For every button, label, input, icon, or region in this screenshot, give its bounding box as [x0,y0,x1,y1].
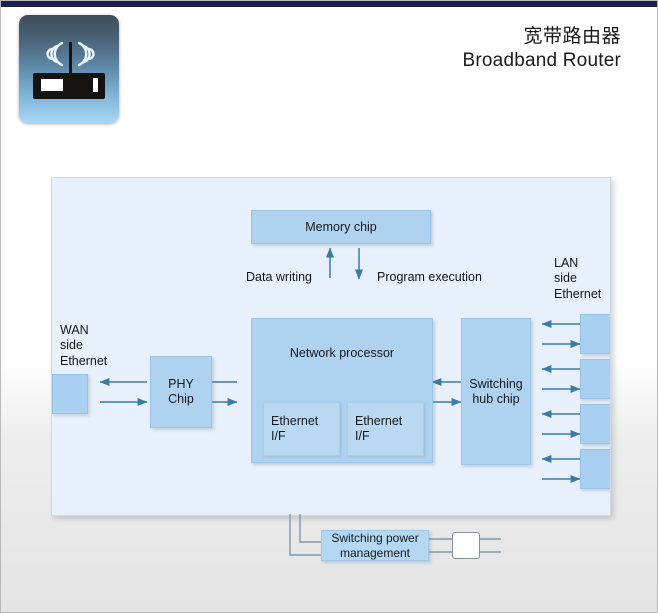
port-lan-3[interactable] [580,404,611,444]
block-phy-chip-label: PHY Chip [168,377,194,407]
block-memory-chip-label: Memory chip [305,220,377,235]
router-internal-diagram-panel: Memory chip Data writing Program executi… [51,177,611,516]
page-title: 宽带路由器 Broadband Router [463,25,621,74]
router-antenna [69,42,72,75]
page-root: 宽带路由器 Broadband Router [0,0,658,613]
block-ethernet-if-1-label: Ethernet I/F [271,414,318,444]
block-switching-power-management-label: Switching power management [331,531,418,559]
title-chinese: 宽带路由器 [463,25,621,49]
port-lan-2[interactable] [580,359,611,399]
block-memory-chip[interactable]: Memory chip [251,210,431,244]
block-ethernet-if-2-label: Ethernet I/F [355,414,402,444]
label-lan-side-ethernet: LAN side Ethernet [554,256,601,302]
block-ethernet-if-2[interactable]: Ethernet I/F [347,402,424,456]
label-data-writing: Data writing [246,270,312,285]
block-network-processor-label: Network processor [290,346,394,361]
router-display-led [41,79,63,91]
label-program-execution: Program execution [377,270,482,285]
router-status-led [93,78,98,92]
port-lan-1[interactable] [580,314,611,354]
block-switching-hub-chip-label: Switching hub chip [469,377,523,407]
broadband-router-icon [19,15,119,123]
block-switching-hub-chip[interactable]: Switching hub chip [461,318,531,465]
power-inlet-connector[interactable] [452,532,480,559]
port-lan-4[interactable] [580,449,611,489]
block-phy-chip[interactable]: PHY Chip [150,356,212,428]
title-english: Broadband Router [463,49,621,73]
block-switching-power-management[interactable]: Switching power management [321,530,429,561]
port-wan-1[interactable] [52,374,88,414]
label-wan-side-ethernet: WAN side Ethernet [60,323,107,369]
block-ethernet-if-1[interactable]: Ethernet I/F [263,402,340,456]
top-accent-bar [1,1,658,7]
